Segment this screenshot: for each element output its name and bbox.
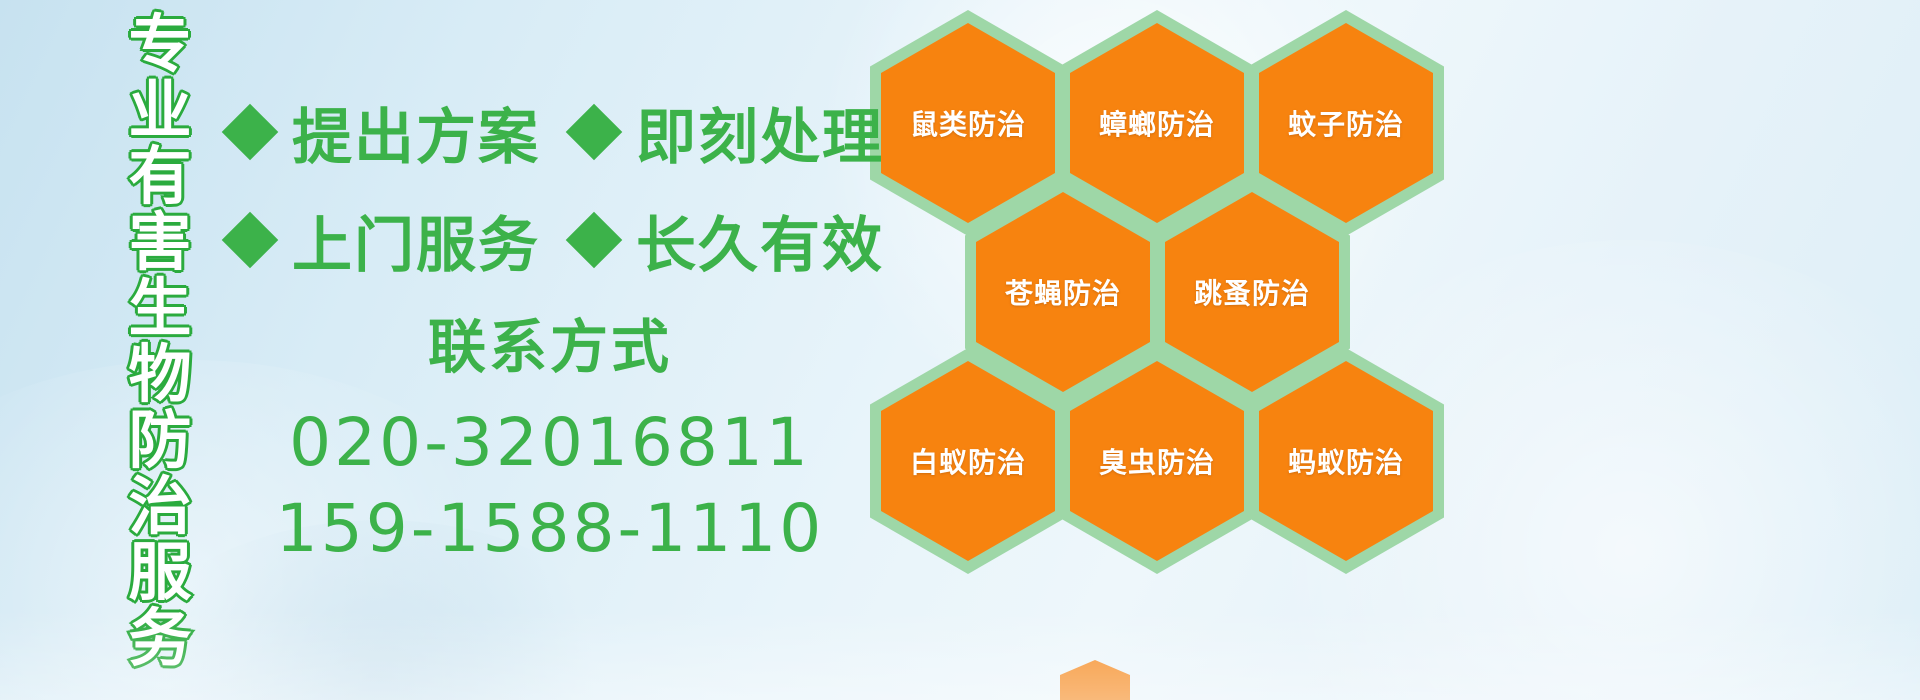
- vertical-slogan-char: 物: [129, 342, 192, 408]
- contact-block: 联系方式 020-32016811 159-1588-1110: [240, 310, 860, 572]
- diamond-icon: [566, 212, 623, 269]
- hex-inner-fill: 苍蝇防治: [976, 192, 1150, 392]
- feature-item: 即刻处理: [574, 89, 884, 176]
- diamond-icon: [222, 212, 279, 269]
- contact-heading: 联系方式: [240, 310, 860, 386]
- vertical-slogan-char: 生: [129, 276, 192, 342]
- feature-item: 长久有效: [574, 197, 884, 284]
- diamond-icon: [222, 104, 279, 161]
- feature-item: 提出方案: [230, 89, 540, 176]
- vertical-slogan-char: 防: [129, 408, 192, 474]
- service-hex-label: 臭虫防治: [1099, 441, 1215, 481]
- vertical-slogan-char: 服: [129, 540, 192, 606]
- diamond-icon: [566, 104, 623, 161]
- vertical-slogan-char: 害: [129, 210, 192, 276]
- service-hex-label: 鼠类防治: [910, 103, 1026, 143]
- phone-number-mobile[interactable]: 159-1588-1110: [240, 486, 860, 572]
- vertical-slogan-char: 务: [129, 606, 192, 672]
- feature-row: 提出方案 即刻处理: [230, 78, 870, 186]
- feature-label: 上门服务: [292, 197, 540, 284]
- hex-inner-fill: 蟑螂防治: [1070, 23, 1244, 223]
- hex-inner-fill: 鼠类防治: [881, 23, 1055, 223]
- vertical-slogan: 专 业 有 害 生 物 防 治 服 务: [112, 12, 208, 688]
- service-hex-label: 蟑螂防治: [1099, 103, 1215, 143]
- feature-label: 提出方案: [292, 89, 540, 176]
- service-hex-label: 跳蚤防治: [1194, 272, 1310, 312]
- vertical-slogan-char: 有: [129, 144, 192, 210]
- service-hex-label: 白蚁防治: [910, 441, 1026, 481]
- phone-number-landline[interactable]: 020-32016811: [240, 400, 860, 486]
- hex-inner-fill: 蚂蚁防治: [1259, 361, 1433, 561]
- vertical-slogan-char: 专: [129, 12, 192, 78]
- pest-control-banner: 专 业 有 害 生 物 防 治 服 务 提出方案 即刻处理 上门服务: [0, 0, 1920, 700]
- service-hex-label: 蚊子防治: [1288, 103, 1404, 143]
- feature-label: 长久有效: [636, 197, 884, 284]
- feature-row: 上门服务 长久有效: [230, 186, 870, 294]
- feature-list: 提出方案 即刻处理 上门服务 长久有效: [230, 78, 870, 294]
- service-hex-label: 苍蝇防治: [1005, 272, 1121, 312]
- feature-label: 即刻处理: [636, 89, 884, 176]
- hex-inner-fill: 白蚁防治: [881, 361, 1055, 561]
- feature-item: 上门服务: [230, 197, 540, 284]
- service-hex-grid: 鼠类防治 蟑螂防治 蚊子防治 苍蝇防治 跳蚤防治 白蚁防治: [860, 0, 1480, 700]
- hex-inner-fill: 臭虫防治: [1070, 361, 1244, 561]
- vertical-slogan-char: 业: [129, 78, 192, 144]
- hex-inner-fill: 跳蚤防治: [1165, 192, 1339, 392]
- hex-inner-fill: 蚊子防治: [1259, 23, 1433, 223]
- vertical-slogan-char: 治: [129, 474, 192, 540]
- service-hex-label: 蚂蚁防治: [1288, 441, 1404, 481]
